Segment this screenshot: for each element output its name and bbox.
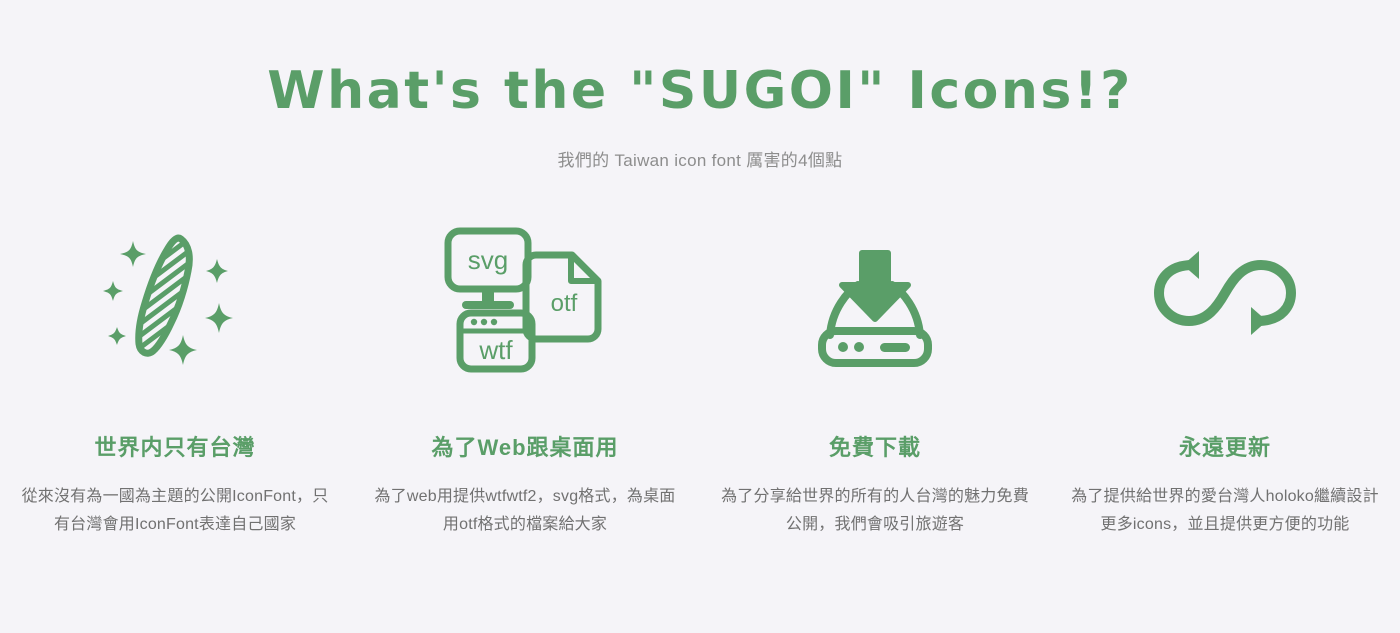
card-icon-wrapper: svg otf bbox=[368, 223, 682, 373]
feature-card: 免費下載 為了分享給世界的所有的人台灣的魅力免費公開，我們會吸引旅遊客 bbox=[700, 223, 1050, 539]
document-label: otf bbox=[550, 290, 577, 317]
card-title: 免費下載 bbox=[829, 435, 921, 461]
card-body: 為了web用提供wtfwtf2，svg格式，為桌面用otf格式的檔案給大家 bbox=[368, 483, 682, 539]
section-header: What's the "SUGOI" Icons!? 我們的 Taiwan ic… bbox=[0, 0, 1400, 171]
browser-wtf-icon: wtf bbox=[460, 313, 532, 369]
taiwan-island-sparkle-icon bbox=[95, 223, 255, 373]
card-icon-wrapper bbox=[1068, 223, 1382, 373]
monitor-svg-icon: svg bbox=[448, 231, 528, 309]
card-title: 世界内只有台灣 bbox=[94, 435, 255, 461]
document-otf-icon: otf bbox=[526, 255, 598, 339]
infinity-refresh-icon bbox=[1145, 223, 1305, 373]
card-body: 為了分享給世界的所有的人台灣的魅力免費公開，我們會吸引旅遊客 bbox=[718, 483, 1032, 539]
monitor-label: svg bbox=[467, 245, 507, 275]
card-icon-wrapper bbox=[718, 223, 1032, 373]
feature-card: svg otf bbox=[350, 223, 700, 539]
file-formats-icon: svg otf bbox=[438, 223, 613, 373]
download-drive-icon bbox=[800, 223, 950, 373]
card-title: 為了Web跟桌面用 bbox=[431, 435, 618, 461]
feature-card: 永遠更新 為了提供給世界的愛台灣人holoko繼續設計更多icons，並且提供更… bbox=[1050, 223, 1400, 539]
feature-card: 世界内只有台灣 從來沒有為一國為主題的公開IconFont，只有台灣會用Icon… bbox=[0, 223, 350, 539]
card-body: 從來沒有為一國為主題的公開IconFont，只有台灣會用IconFont表達自己… bbox=[18, 483, 332, 539]
card-body: 為了提供給世界的愛台灣人holoko繼續設計更多icons，並且提供更方便的功能 bbox=[1068, 483, 1382, 539]
card-icon-wrapper bbox=[18, 223, 332, 373]
feature-card-list: 世界内只有台灣 從來沒有為一國為主題的公開IconFont，只有台灣會用Icon… bbox=[0, 223, 1400, 539]
browser-label: wtf bbox=[478, 335, 513, 365]
page-subtitle: 我們的 Taiwan icon font 厲害的4個點 bbox=[0, 146, 1400, 171]
card-title: 永遠更新 bbox=[1179, 435, 1271, 461]
feature-section: What's the "SUGOI" Icons!? 我們的 Taiwan ic… bbox=[0, 0, 1400, 633]
page-title: What's the "SUGOI" Icons!? bbox=[0, 62, 1400, 122]
